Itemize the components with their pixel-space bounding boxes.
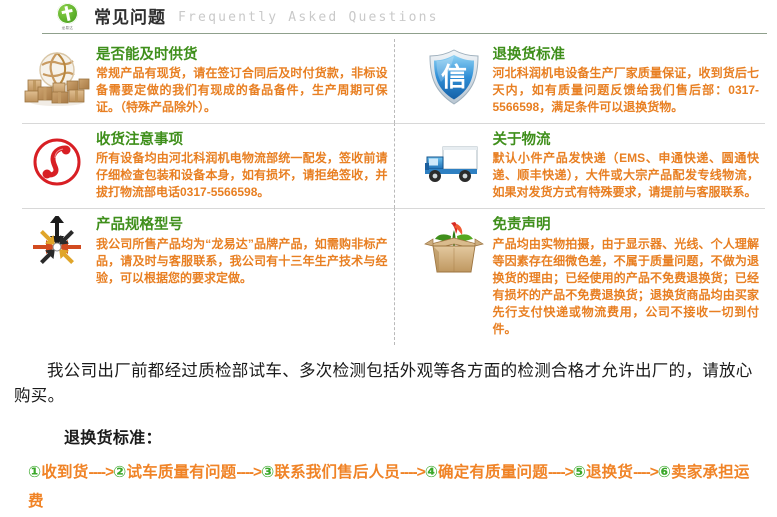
flow-arrow-icon: ---->	[88, 464, 113, 481]
shield-trust-icon: 信	[421, 46, 487, 108]
flow-step-number: ④	[425, 464, 438, 481]
faq-item-return-standard: 信 退换货标准 河北科润机电设备生产厂家质量保证，收到货后七天内，如有质量问题反…	[394, 39, 766, 123]
page-header: 龙易达 常见问题 Frequently Asked Questions	[0, 0, 777, 34]
flow-arrow-icon: ---->	[400, 464, 425, 481]
faq-grid: 是否能及时供货 常规产品有现货，请在签订合同后及时付货款，非标设备需要定做的我们…	[22, 39, 765, 345]
faq-title: 退换货标准	[493, 46, 760, 64]
brand-logo-icon: 龙易达	[50, 2, 84, 32]
faq-title: 产品规格型号	[96, 216, 388, 234]
faq-title: 收货注意事项	[96, 131, 388, 149]
quality-statement: 我公司出厂前都经过质检部试车、多次检测包括外观等各方面的检测合格才允许出厂的，请…	[14, 359, 765, 410]
flow-step-label: 退换货	[586, 464, 633, 481]
header-divider	[42, 33, 767, 34]
page-title: 常见问题	[94, 9, 166, 26]
faq-item-logistics: 关于物流 默认小件产品发快递（EMS、申通快递、圆通快递、顺丰快递），大件或大宗…	[394, 123, 766, 208]
phone-circle-icon	[24, 131, 90, 193]
bottom-section: 我公司出厂前都经过质检部试车、多次检测包括外观等各方面的检测合格才允许出厂的，请…	[14, 359, 765, 517]
flow-step-number: ①	[28, 464, 41, 481]
open-box-plant-icon	[421, 216, 487, 278]
flow-step-label: 联系我们售后人员	[274, 464, 400, 481]
flow-step-number: ⑤	[573, 464, 586, 481]
faq-page: 龙易达 常见问题 Frequently Asked Questions	[0, 0, 777, 497]
flow-step-label: 收到货	[41, 464, 88, 481]
faq-text-block: 关于物流 默认小件产品发快递（EMS、申通快递、圆通快递、顺丰快递），大件或大宗…	[493, 131, 760, 201]
return-standard-title: 退换货标准：	[64, 424, 765, 448]
faq-body: 河北科润机电设备生产厂家质量保证，收到货后七天内，如有质量问题反馈给我们售后部：…	[493, 65, 760, 116]
flow-step-number: ③	[261, 464, 274, 481]
flow-step-label: 试车质量有问题	[126, 464, 236, 481]
faq-item-receiving-notes: 收货注意事项 所有设备均由河北科润机电物流部统一配发，签收前请仔细检查包装和设备…	[22, 123, 394, 208]
faq-item-product-spec: 产品规格型号 我公司所售产品均为“龙易达”品牌产品，如需购非标产品，请及时与客服…	[22, 208, 394, 344]
flow-step-number: ②	[113, 464, 126, 481]
flow-step-label: 确定有质量问题	[438, 464, 548, 481]
svg-text:信: 信	[440, 63, 466, 93]
faq-text-block: 是否能及时供货 常规产品有现货，请在签订合同后及时付货款，非标设备需要定做的我们…	[96, 46, 388, 116]
faq-item-disclaimer: 免责声明 产品均由实物拍摄，由于显示器、光线、个人理解等因素存在细微色差，不属于…	[394, 208, 766, 344]
faq-title: 是否能及时供货	[96, 46, 388, 64]
faq-text-block: 收货注意事项 所有设备均由河北科润机电物流部统一配发，签收前请仔细检查包装和设备…	[96, 131, 388, 201]
faq-body: 常规产品有现货，请在签订合同后及时付货款，非标设备需要定做的我们有现成的备品备件…	[96, 65, 388, 116]
faq-body: 所有设备均由河北科润机电物流部统一配发，签收前请仔细检查包装和设备本身，如有损坏…	[96, 150, 388, 201]
faq-item-supply: 是否能及时供货 常规产品有现货，请在签订合同后及时付货款，非标设备需要定做的我们…	[22, 39, 394, 123]
faq-text-block: 免责声明 产品均由实物拍摄，由于显示器、光线、个人理解等因素存在细微色差，不属于…	[493, 216, 760, 337]
flow-arrow-icon: ---->	[548, 464, 573, 481]
logo-brandmark-text: 龙易达	[61, 25, 72, 30]
delivery-truck-icon	[421, 131, 487, 193]
flow-arrow-icon: ---->	[633, 464, 658, 481]
arrows-spec-icon	[24, 216, 90, 278]
logo-disc	[57, 3, 78, 24]
faq-body: 我公司所售产品均为“龙易达”品牌产品，如需购非标产品，请及时与客服联系，我公司有…	[96, 236, 388, 287]
flow-step-number: ⑥	[658, 464, 671, 481]
globe-boxes-icon	[24, 46, 90, 108]
faq-title: 免责声明	[493, 216, 760, 234]
flow-arrow-icon: ---->	[236, 464, 261, 481]
faq-body: 产品均由实物拍摄，由于显示器、光线、个人理解等因素存在细微色差，不属于质量问题，…	[493, 236, 760, 338]
faq-title: 关于物流	[493, 131, 760, 149]
faq-text-block: 产品规格型号 我公司所售产品均为“龙易达”品牌产品，如需购非标产品，请及时与客服…	[96, 216, 388, 286]
faq-text-block: 退换货标准 河北科润机电设备生产厂家质量保证，收到货后七天内，如有质量问题反馈给…	[493, 46, 760, 116]
return-flow-steps: ①收到货---->②试车质量有问题---->③联系我们售后人员---->④确定有…	[28, 458, 765, 517]
faq-body: 默认小件产品发快递（EMS、申通快递、圆通快递、顺丰快递），大件或大宗产品配发专…	[493, 150, 760, 201]
page-title-english: Frequently Asked Questions	[178, 11, 439, 24]
